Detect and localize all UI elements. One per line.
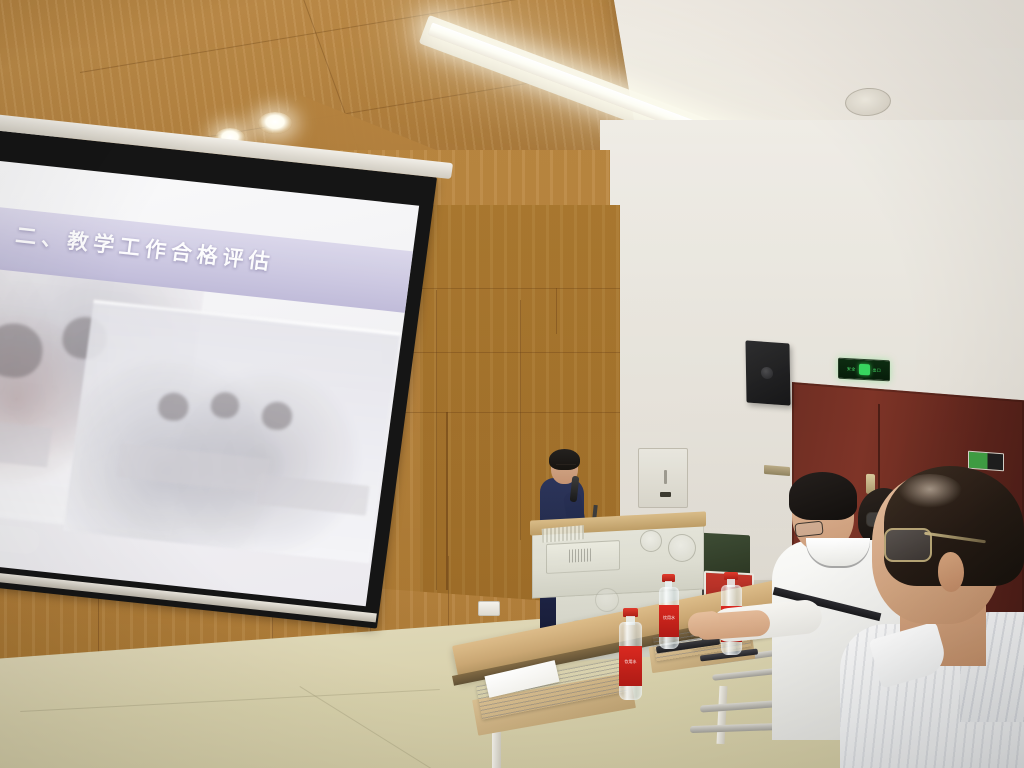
projection-screen: 二、教学工作合格评估 — [0, 118, 437, 643]
forehead-highlight — [898, 474, 962, 508]
wall-electrical-box — [638, 448, 688, 508]
electrical-box-label — [660, 492, 671, 497]
wall-notice-sign — [968, 451, 1004, 472]
slide-photo-computer-lab — [63, 300, 400, 564]
running-man-icon — [859, 364, 870, 376]
exit-sign-text-left: 安全 — [847, 366, 856, 372]
screen-surface: 二、教学工作合格评估 — [0, 149, 419, 606]
panel-seam — [436, 290, 437, 590]
panel-seam — [400, 412, 620, 413]
attendee-white-polo-hair — [789, 472, 857, 520]
electrical-box-latch — [664, 470, 667, 484]
institution-emblem — [640, 530, 662, 552]
bottle-label-text: 饮用水 — [619, 646, 642, 664]
attendee-ear — [938, 552, 964, 592]
lectern-logo — [569, 548, 591, 562]
panel-seam — [520, 300, 521, 540]
panel-seam — [400, 352, 620, 353]
bottle-label: 饮用水 — [659, 605, 679, 637]
exit-sign-text-right: 出口 — [873, 367, 882, 373]
downlight-icon — [258, 112, 292, 134]
attendee-white-polo-glasses — [794, 521, 823, 538]
wall-outlet — [478, 601, 500, 616]
attendee-hand — [687, 610, 721, 637]
panel-seam — [556, 288, 557, 334]
institution-emblem — [668, 534, 696, 562]
emergency-exit-sign: 安全 出口 — [838, 358, 890, 382]
bottle-label-text: 饮用水 — [659, 605, 679, 620]
panel-seam — [400, 288, 620, 289]
presenter-glasses — [556, 464, 576, 470]
speaker-cone-icon — [761, 366, 773, 379]
conference-room-photo: 二、教学工作合格评估 安全 出口 — [0, 0, 1024, 768]
bottle-label: 饮用水 — [619, 646, 642, 686]
institution-emblem — [595, 588, 619, 612]
